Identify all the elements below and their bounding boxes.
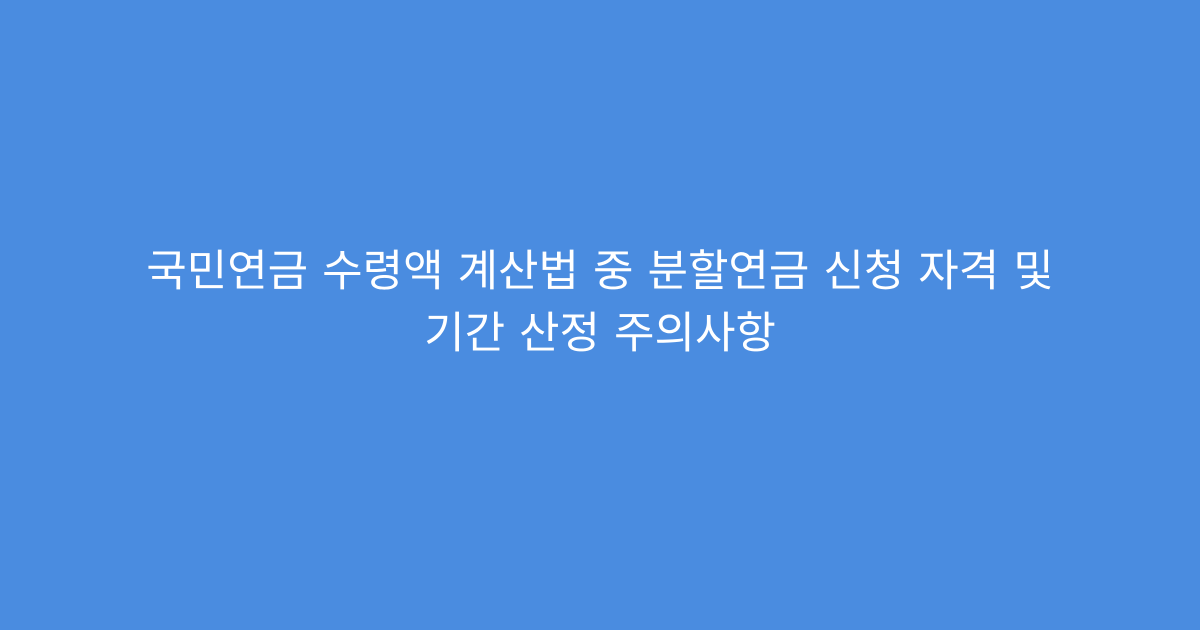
- thumbnail-card: 국민연금 수령액 계산법 중 분할연금 신청 자격 및 기간 산정 주의사항: [0, 0, 1200, 630]
- page-title: 국민연금 수령액 계산법 중 분할연금 신청 자격 및 기간 산정 주의사항: [75, 241, 1125, 365]
- title-block: 국민연금 수령액 계산법 중 분할연금 신청 자격 및 기간 산정 주의사항: [55, 241, 1145, 365]
